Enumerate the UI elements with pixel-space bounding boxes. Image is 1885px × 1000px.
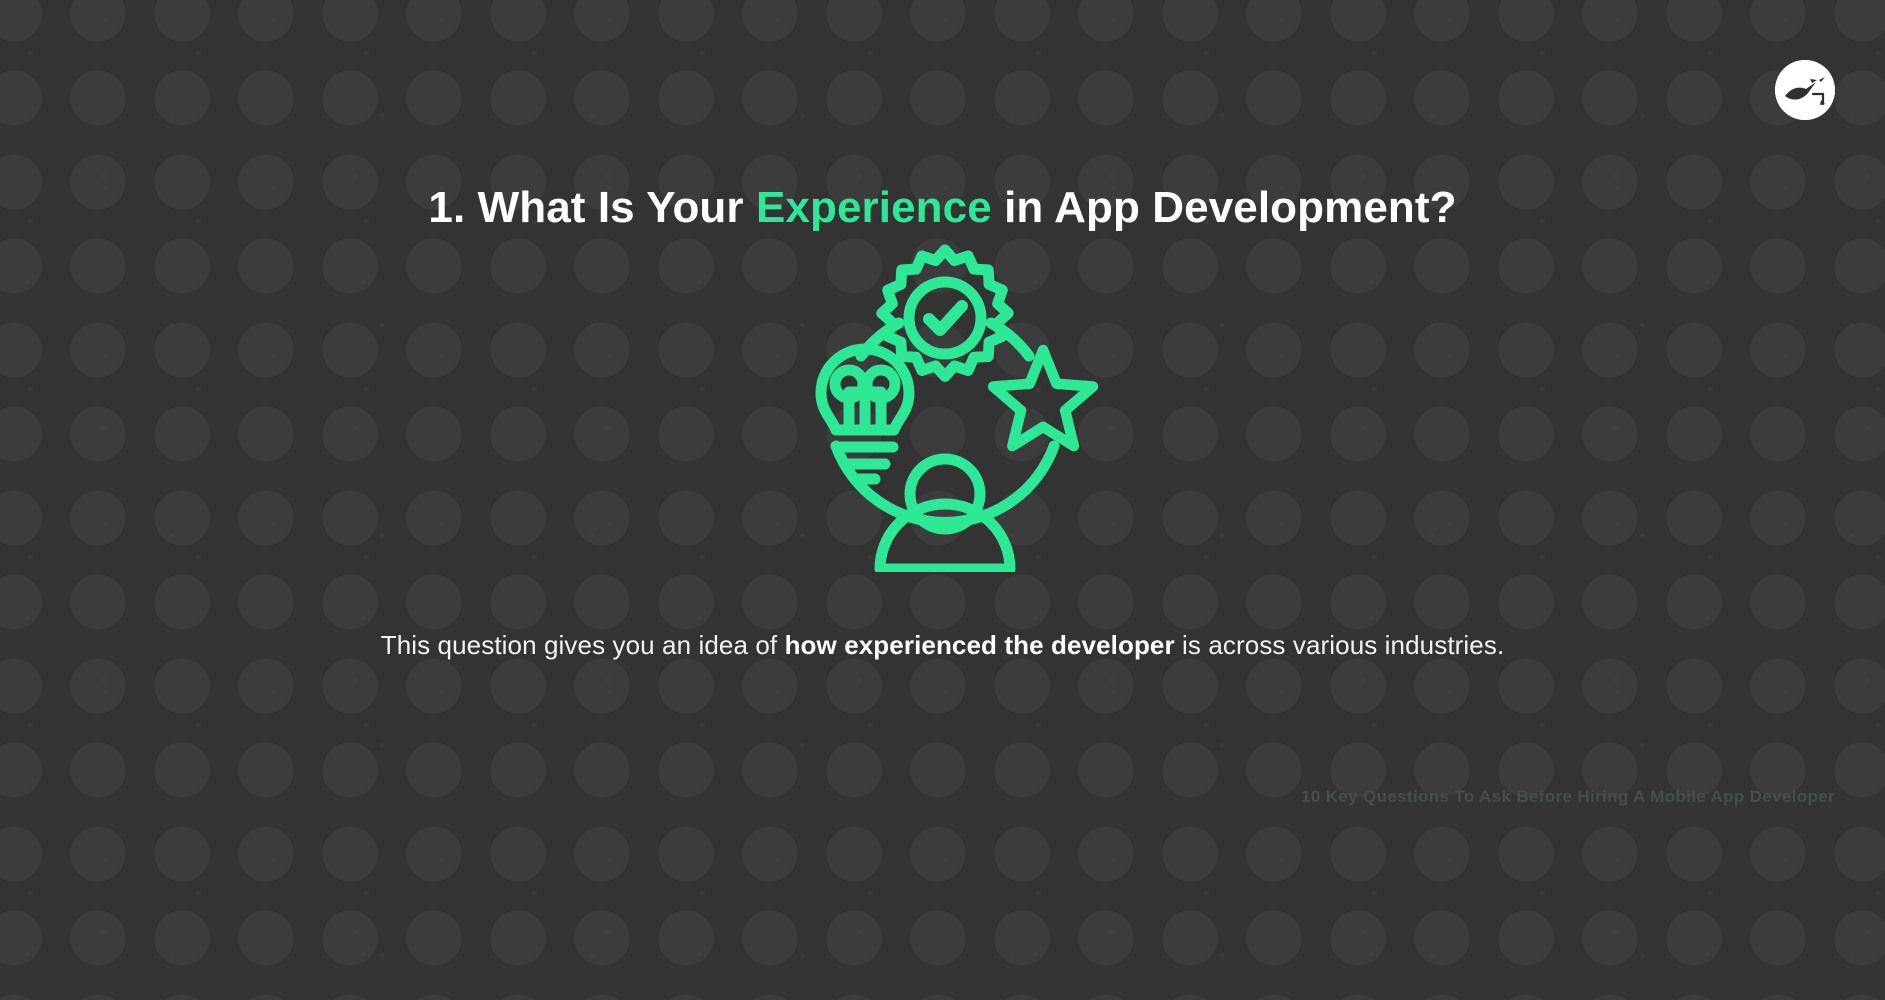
experience-illustration-svg <box>775 232 1115 572</box>
experience-illustration <box>775 232 1115 572</box>
slide-body-text: This question gives you an idea of how e… <box>323 624 1563 667</box>
body-lead: This question gives you an idea of <box>381 630 785 660</box>
slide-title-highlight: Experience <box>756 183 992 232</box>
slide-title-after: in App Development? <box>992 183 1457 232</box>
body-trail: is across various industries. <box>1175 630 1505 660</box>
footer-watermark: 10 Key Questions To Ask Before Hiring A … <box>1301 786 1835 808</box>
slide-title-before: 1. What Is Your <box>428 183 756 232</box>
gear-check-icon <box>881 250 1007 376</box>
body-emphasis: how experienced the developer <box>785 630 1175 660</box>
brand-logo-mark <box>1775 60 1835 120</box>
slide-canvas: 1. What Is Your Experience in App Develo… <box>0 0 1885 1000</box>
star-icon <box>993 350 1093 446</box>
lightbulb-icon <box>821 349 909 479</box>
brand-logo[interactable] <box>1775 60 1835 120</box>
slide-title: 1. What Is Your Experience in App Develo… <box>0 180 1885 236</box>
